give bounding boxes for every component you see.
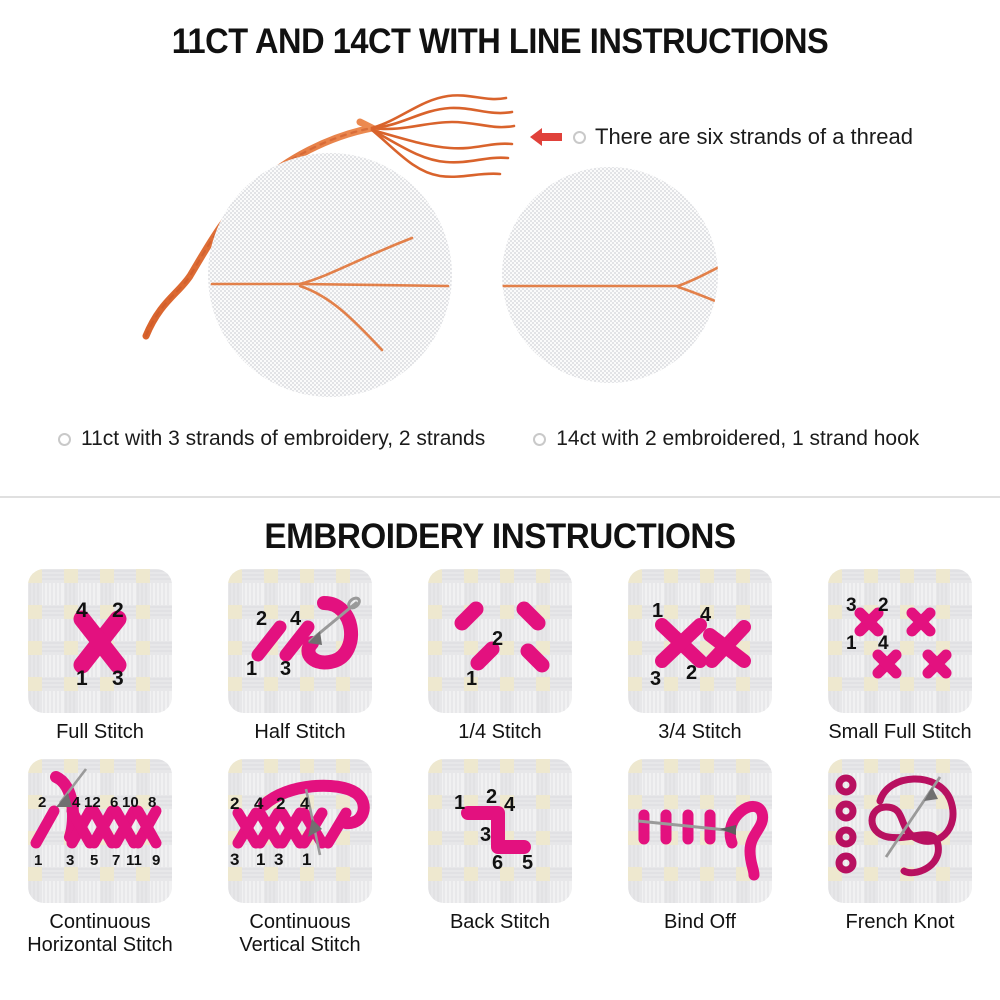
stitch-number: 1: [246, 658, 257, 680]
stitch-number: 1: [34, 852, 42, 869]
stitch-label-quarter-stitch: 1/4 Stitch: [458, 721, 541, 745]
stitch-number: 6: [110, 794, 118, 811]
six-strands-note: There are six strands of a thread: [528, 124, 913, 150]
stitch-number: 4: [700, 604, 712, 626]
stitch-number: 4: [300, 794, 310, 813]
stitch-number: 2: [112, 599, 124, 622]
stitch-number: 1: [76, 667, 88, 690]
stitch-cell-french-knot: French Knot: [800, 759, 1000, 958]
continuous-horizontal-diagram: 2 4 12 6 10 8 1 3 5 7 11 9: [28, 759, 172, 903]
stitch-cell-full-stitch: 4 2 1 3 Full Stitch: [0, 569, 200, 745]
stitch-number: 9: [152, 852, 160, 869]
stitch-number: 3: [230, 850, 239, 869]
continuous-vertical-diagram: 2 4 2 4 3 1 3 1: [228, 759, 372, 903]
thread-section: 11CT AND 14CT WITH LINE INSTRUCTIONS: [0, 0, 1000, 497]
stitch-cell-continuous-horizontal-stitch: 2 4 12 6 10 8 1 3 5 7 11 9: [0, 759, 200, 958]
aida-circle-14ct: [502, 167, 718, 383]
stitch-number: 5: [90, 852, 98, 869]
stitch-label-continuous-horizontal-stitch: Continuous Horizontal Stitch: [27, 911, 173, 958]
stitch-number: 5: [522, 852, 533, 874]
stitch-number: 4: [290, 608, 302, 630]
stitch-number: 1: [256, 850, 265, 869]
instruction-sheet: 11CT AND 14CT WITH LINE INSTRUCTIONS: [0, 0, 1000, 1000]
small-full-stitch-diagram: 3 2 1 4: [828, 569, 972, 713]
stitch-cell-bind-off: Bind Off: [600, 759, 800, 958]
stitch-number: 1: [846, 633, 857, 654]
caption-14ct: 14ct with 2 embroidered, 1 strand hook: [533, 427, 919, 451]
stitch-number: 3: [112, 667, 124, 690]
full-stitch-diagram: 4 2 1 3: [28, 569, 172, 713]
stitch-number: 3: [846, 595, 857, 616]
stitch-cell-continuous-vertical-stitch: 2 4 2 4 3 1 3 1 Continuous Vertical Stit…: [200, 759, 400, 958]
stitch-number: 2: [38, 794, 46, 811]
stitch-number: 4: [504, 794, 516, 816]
stitch-cell-half-stitch: 2 4 1 3 Half Stitch: [200, 569, 400, 745]
section-divider: [0, 496, 1000, 498]
stitch-number: 3: [280, 658, 291, 680]
stitch-grid: 4 2 1 3 Full Stitch: [0, 569, 1000, 958]
stitch-cell-small-full-stitch: 3 2 1 4 Small Full Stitch: [800, 569, 1000, 745]
stitch-number: 3: [480, 824, 491, 846]
quarter-stitch-diagram: 2 1: [428, 569, 572, 713]
bullet-icon: [533, 433, 546, 446]
stitch-number: 3: [66, 852, 74, 869]
stitch-number: 4: [72, 794, 81, 811]
stitch-number: 11: [126, 852, 142, 869]
stitch-number: 4: [878, 633, 889, 654]
stitch-number: 1: [466, 668, 477, 690]
stitch-number: 1: [652, 600, 663, 622]
three-quarter-stitch-diagram: 1 4 2 3: [628, 569, 772, 713]
caption-11ct: 11ct with 3 strands of embroidery, 2 str…: [58, 427, 485, 451]
stitch-number: 3: [650, 668, 661, 690]
bind-off-diagram: [628, 759, 772, 903]
bullet-icon: [573, 131, 586, 144]
stitch-number: 2: [486, 786, 497, 808]
stitch-number: 12: [84, 794, 101, 811]
stitch-number: 2: [492, 628, 503, 650]
stitch-label-full-stitch: Full Stitch: [56, 721, 144, 745]
stitch-number: 2: [276, 794, 285, 813]
stitch-number: 8: [148, 794, 156, 811]
stitch-number: 1: [454, 792, 465, 814]
left-arrow-icon: [528, 126, 564, 148]
stitch-number: 4: [254, 794, 264, 813]
french-knot-diagram: [828, 759, 972, 903]
stitch-cell-quarter-stitch: 2 1 1/4 Stitch: [400, 569, 600, 745]
stitch-number: 3: [274, 850, 283, 869]
caption-14ct-label: 14ct with 2 embroidered, 1 strand hook: [556, 427, 919, 451]
stitch-number: 6: [492, 852, 503, 874]
six-strands-label: There are six strands of a thread: [595, 124, 913, 150]
stitch-number: 2: [686, 662, 697, 684]
stitch-cell-three-quarter-stitch: 1 4 2 3 3/4 Stitch: [600, 569, 800, 745]
stitch-label-back-stitch: Back Stitch: [450, 911, 550, 935]
embroidery-title: EMBROIDERY INSTRUCTIONS: [25, 517, 975, 557]
stitch-label-half-stitch: Half Stitch: [254, 721, 345, 745]
aida-circle-11ct: [208, 153, 452, 397]
back-stitch-diagram: 1 2 4 3 6 5: [428, 759, 572, 903]
stitch-number: 1: [302, 850, 311, 869]
stitch-number: 4: [76, 599, 88, 622]
bullet-icon: [58, 433, 71, 446]
half-stitch-diagram: 2 4 1 3: [228, 569, 372, 713]
stitch-number: 7: [112, 852, 120, 869]
stitch-number: 2: [878, 595, 889, 616]
stitch-label-three-quarter-stitch: 3/4 Stitch: [658, 721, 741, 745]
caption-11ct-label: 11ct with 3 strands of embroidery, 2 str…: [81, 427, 485, 451]
stitch-number: 2: [256, 608, 267, 630]
embroidery-section: EMBROIDERY INSTRUCTIONS: [0, 499, 1000, 1000]
page-title: 11CT AND 14CT WITH LINE INSTRUCTIONS: [35, 22, 965, 62]
stitch-cell-back-stitch: 1 2 4 3 6 5 Back Stitch: [400, 759, 600, 958]
stitch-label-small-full-stitch: Small Full Stitch: [828, 721, 971, 745]
stitch-number: 10: [122, 794, 139, 811]
stitch-label-bind-off: Bind Off: [664, 911, 736, 935]
stitch-label-french-knot: French Knot: [846, 911, 955, 935]
stitch-label-continuous-vertical-stitch: Continuous Vertical Stitch: [239, 911, 360, 958]
stitch-number: 2: [230, 794, 239, 813]
caption-row: 11ct with 3 strands of embroidery, 2 str…: [0, 427, 1000, 451]
